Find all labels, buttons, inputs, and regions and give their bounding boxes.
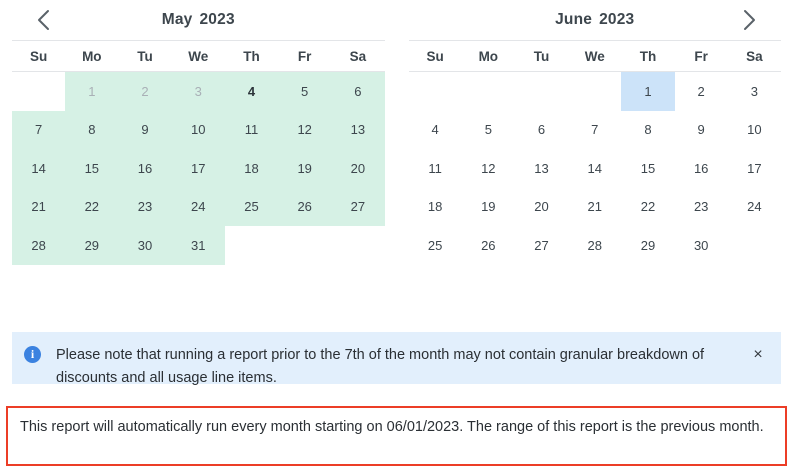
calendar-day-number: 20 — [351, 161, 365, 176]
weekday-su: Su — [12, 49, 65, 64]
calendar-day-number: 26 — [297, 199, 311, 214]
calendar-header-right: June2023 — [409, 0, 782, 40]
calendar-day-number: 11 — [428, 161, 442, 176]
calendar-year-label-left: 2023 — [199, 11, 234, 28]
calendar-day-number: 30 — [694, 238, 708, 253]
calendar-day-number: 20 — [534, 199, 548, 214]
calendar-day[interactable]: 25 — [409, 226, 462, 265]
calendar-day-number: 10 — [747, 122, 761, 137]
calendar-day-number: 2 — [141, 84, 148, 99]
calendar-day-number: 21 — [31, 199, 45, 214]
calendar-day-number: 6 — [538, 122, 545, 137]
weekday-sa: Sa — [331, 49, 384, 64]
calendar-day[interactable]: 15 — [65, 149, 118, 188]
calendar-day-number: 24 — [191, 199, 205, 214]
calendar-day-number: 9 — [141, 122, 148, 137]
calendar-header-left: May2023 — [12, 0, 385, 40]
calendar-day-empty — [12, 72, 65, 111]
calendar-day-number: 22 — [85, 199, 99, 214]
calendar-day[interactable]: 6 — [331, 72, 384, 111]
calendar-day-number: 16 — [694, 161, 708, 176]
calendar-day[interactable]: 26 — [462, 226, 515, 265]
calendar-day-number: 4 — [248, 84, 255, 99]
calendar-day[interactable]: 2 — [675, 72, 728, 111]
calendar-day-number: 5 — [485, 122, 492, 137]
calendar-day-number: 5 — [301, 84, 308, 99]
calendar-week-row: 14151617181920 — [12, 149, 385, 188]
calendar-day[interactable]: 20 — [331, 149, 384, 188]
calendar-day[interactable]: 17 — [172, 149, 225, 188]
calendar-day-number: 26 — [481, 238, 495, 253]
calendar-day[interactable]: 24 — [172, 188, 225, 227]
calendar-day[interactable]: 7 — [568, 111, 621, 150]
weekday-mo: Mo — [462, 49, 515, 64]
calendar-day[interactable]: 22 — [621, 188, 674, 227]
calendar-month-label-left: May — [162, 11, 193, 28]
calendar-day[interactable]: 24 — [728, 188, 781, 227]
calendar-day-number: 25 — [428, 238, 442, 253]
calendar-day-number: 9 — [698, 122, 705, 137]
calendar-week-row: 11121314151617 — [409, 149, 782, 188]
calendar-day-number: 14 — [31, 161, 45, 176]
calendar-day-empty — [278, 226, 331, 265]
calendar-day[interactable]: 5 — [278, 72, 331, 111]
calendar-day[interactable]: 3 — [728, 72, 781, 111]
calendar-day[interactable]: 21 — [12, 188, 65, 227]
calendar-day-number: 16 — [138, 161, 152, 176]
weekday-th: Th — [225, 49, 278, 64]
calendar-day[interactable]: 13 — [515, 149, 568, 188]
calendar-day[interactable]: 12 — [278, 111, 331, 150]
calendar-day[interactable]: 10 — [728, 111, 781, 150]
weekday-header-row-left: Su Mo Tu We Th Fr Sa — [12, 40, 385, 72]
calendar-day[interactable]: 28 — [12, 226, 65, 265]
calendar-day-number: 18 — [428, 199, 442, 214]
weekday-fr: Fr — [278, 49, 331, 64]
weekday-header-row-right: Su Mo Tu We Th Fr Sa — [409, 40, 782, 72]
calendar-day[interactable]: 16 — [675, 149, 728, 188]
weekday-sa: Sa — [728, 49, 781, 64]
weekday-we: We — [172, 49, 225, 64]
chevron-left-icon — [36, 8, 52, 32]
calendar-week-row: 252627282930 — [409, 226, 782, 265]
calendar-day[interactable]: 7 — [12, 111, 65, 150]
calendar-day[interactable]: 4 — [409, 111, 462, 150]
calendar-day[interactable]: 19 — [278, 149, 331, 188]
calendar-day-empty — [728, 226, 781, 265]
calendar-month-left: May2023 Su Mo Tu We Th Fr Sa 12345678910… — [0, 0, 397, 300]
calendar-day-empty — [515, 72, 568, 111]
calendar-day-number: 8 — [88, 122, 95, 137]
calendar-day-empty — [331, 226, 384, 265]
calendar-day[interactable]: 23 — [675, 188, 728, 227]
weekday-su: Su — [409, 49, 462, 64]
weekday-fr: Fr — [675, 49, 728, 64]
info-banner-message: Please note that running a report prior … — [41, 344, 749, 391]
next-month-button[interactable] — [731, 0, 767, 40]
calendar-day-number: 3 — [195, 84, 202, 99]
calendar-day-number: 19 — [297, 161, 311, 176]
calendar-week-row: 18192021222324 — [409, 188, 782, 227]
calendar-day[interactable]: 9 — [118, 111, 171, 150]
calendar-day[interactable]: 14 — [12, 149, 65, 188]
calendar-day-number: 27 — [351, 199, 365, 214]
calendar-day-number: 10 — [191, 122, 205, 137]
calendar-day[interactable]: 30 — [118, 226, 171, 265]
calendar-week-row: 21222324252627 — [12, 188, 385, 227]
calendar-day[interactable]: 27 — [331, 188, 384, 227]
calendar-week-row: 78910111213 — [12, 111, 385, 150]
calendar-day[interactable]: 4 — [225, 72, 278, 111]
calendar-day-empty — [568, 72, 621, 111]
calendar-day-number: 18 — [244, 161, 258, 176]
calendar-day-empty — [409, 72, 462, 111]
calendar-day[interactable]: 2 — [118, 72, 171, 111]
calendar-day[interactable]: 18 — [225, 149, 278, 188]
info-circle-icon: i — [24, 346, 41, 363]
calendar-title-right: June2023 — [409, 11, 782, 29]
calendar-day[interactable]: 8 — [621, 111, 674, 150]
calendar-day-number: 7 — [591, 122, 598, 137]
date-range-picker: May2023 Su Mo Tu We Th Fr Sa 12345678910… — [0, 0, 793, 300]
calendar-day-number: 7 — [35, 122, 42, 137]
calendar-title-left: May2023 — [12, 11, 385, 29]
calendar-day-number: 17 — [191, 161, 205, 176]
calendar-day[interactable]: 29 — [621, 226, 674, 265]
calendar-day[interactable]: 16 — [118, 149, 171, 188]
chevron-right-icon — [741, 8, 757, 32]
calendar-day[interactable]: 30 — [675, 226, 728, 265]
weekday-we: We — [568, 49, 621, 64]
calendar-day[interactable]: 26 — [278, 188, 331, 227]
calendar-day[interactable]: 1 — [65, 72, 118, 111]
calendar-day-number: 17 — [747, 161, 761, 176]
calendar-day-number: 22 — [641, 199, 655, 214]
calendar-week-row: 123 — [409, 72, 782, 111]
calendar-day-number: 15 — [85, 161, 99, 176]
calendar-day-number: 21 — [588, 199, 602, 214]
calendar-day[interactable]: 13 — [331, 111, 384, 150]
calendar-day[interactable]: 23 — [118, 188, 171, 227]
calendar-day-number: 8 — [644, 122, 651, 137]
calendar-day[interactable]: 3 — [172, 72, 225, 111]
calendar-day[interactable]: 9 — [675, 111, 728, 150]
calendar-year-label-right: 2023 — [599, 11, 634, 28]
calendar-month-label-right: June — [555, 11, 592, 28]
calendar-day-number: 27 — [534, 238, 548, 253]
weekday-mo: Mo — [65, 49, 118, 64]
calendar-day-number: 11 — [245, 122, 259, 137]
calendar-day-number: 28 — [588, 238, 602, 253]
calendar-day-number: 14 — [588, 161, 602, 176]
calendar-day-number: 31 — [191, 238, 205, 253]
weekday-th: Th — [621, 49, 674, 64]
calendar-day-number: 1 — [88, 84, 95, 99]
calendar-day-number: 24 — [747, 199, 761, 214]
calendar-day-empty — [462, 72, 515, 111]
calendar-grid-left: 1234567891011121314151617181920212223242… — [12, 72, 385, 265]
calendar-day[interactable]: 12 — [462, 149, 515, 188]
calendar-day-number: 12 — [297, 122, 311, 137]
calendar-day[interactable]: 15 — [621, 149, 674, 188]
calendar-day[interactable]: 11 — [409, 149, 462, 188]
calendar-day-number: 3 — [751, 84, 758, 99]
calendar-day[interactable]: 21 — [568, 188, 621, 227]
calendar-day-empty — [225, 226, 278, 265]
calendar-day-number: 13 — [534, 161, 548, 176]
calendar-day[interactable]: 20 — [515, 188, 568, 227]
calendar-day-number: 25 — [244, 199, 258, 214]
calendar-day-number: 1 — [644, 84, 651, 99]
weekday-tu: Tu — [118, 49, 171, 64]
calendar-day-number: 13 — [351, 122, 365, 137]
calendar-week-row: 28293031 — [12, 226, 385, 265]
calendar-day-number: 28 — [31, 238, 45, 253]
calendar-day-number: 19 — [481, 199, 495, 214]
calendar-grid-right: 1234567891011121314151617181920212223242… — [409, 72, 782, 265]
calendar-day[interactable]: 18 — [409, 188, 462, 227]
calendar-day[interactable]: 1 — [621, 72, 674, 111]
report-schedule-note: This report will automatically run every… — [6, 406, 787, 466]
calendar-day[interactable]: 28 — [568, 226, 621, 265]
info-banner: i Please note that running a report prio… — [12, 332, 781, 384]
calendar-day-number: 4 — [431, 122, 438, 137]
weekday-tu: Tu — [515, 49, 568, 64]
calendar-day-number: 6 — [354, 84, 361, 99]
calendar-day[interactable]: 14 — [568, 149, 621, 188]
calendar-week-row: 123456 — [12, 72, 385, 111]
report-schedule-note-text: This report will automatically run every… — [20, 416, 773, 439]
calendar-day-number: 12 — [481, 161, 495, 176]
calendar-day-number: 2 — [698, 84, 705, 99]
calendar-day[interactable]: 17 — [728, 149, 781, 188]
calendar-day-number: 15 — [641, 161, 655, 176]
calendar-day[interactable]: 29 — [65, 226, 118, 265]
calendar-day[interactable]: 25 — [225, 188, 278, 227]
calendar-day[interactable]: 27 — [515, 226, 568, 265]
calendar-day-number: 23 — [694, 199, 708, 214]
calendar-day-number: 23 — [138, 199, 152, 214]
prev-month-button[interactable] — [26, 0, 62, 40]
calendar-day-number: 30 — [138, 238, 152, 253]
calendar-day[interactable]: 6 — [515, 111, 568, 150]
calendar-day[interactable]: 10 — [172, 111, 225, 150]
close-icon[interactable]: × — [749, 346, 767, 364]
calendar-day[interactable]: 11 — [225, 111, 278, 150]
calendar-week-row: 45678910 — [409, 111, 782, 150]
calendar-day-number: 29 — [85, 238, 99, 253]
calendar-day[interactable]: 8 — [65, 111, 118, 150]
calendar-day[interactable]: 19 — [462, 188, 515, 227]
calendar-day[interactable]: 5 — [462, 111, 515, 150]
calendar-month-right: June2023 Su Mo Tu We Th Fr Sa 1234567891… — [397, 0, 793, 300]
calendar-day-number: 29 — [641, 238, 655, 253]
calendar-day[interactable]: 22 — [65, 188, 118, 227]
calendar-day[interactable]: 31 — [172, 226, 225, 265]
